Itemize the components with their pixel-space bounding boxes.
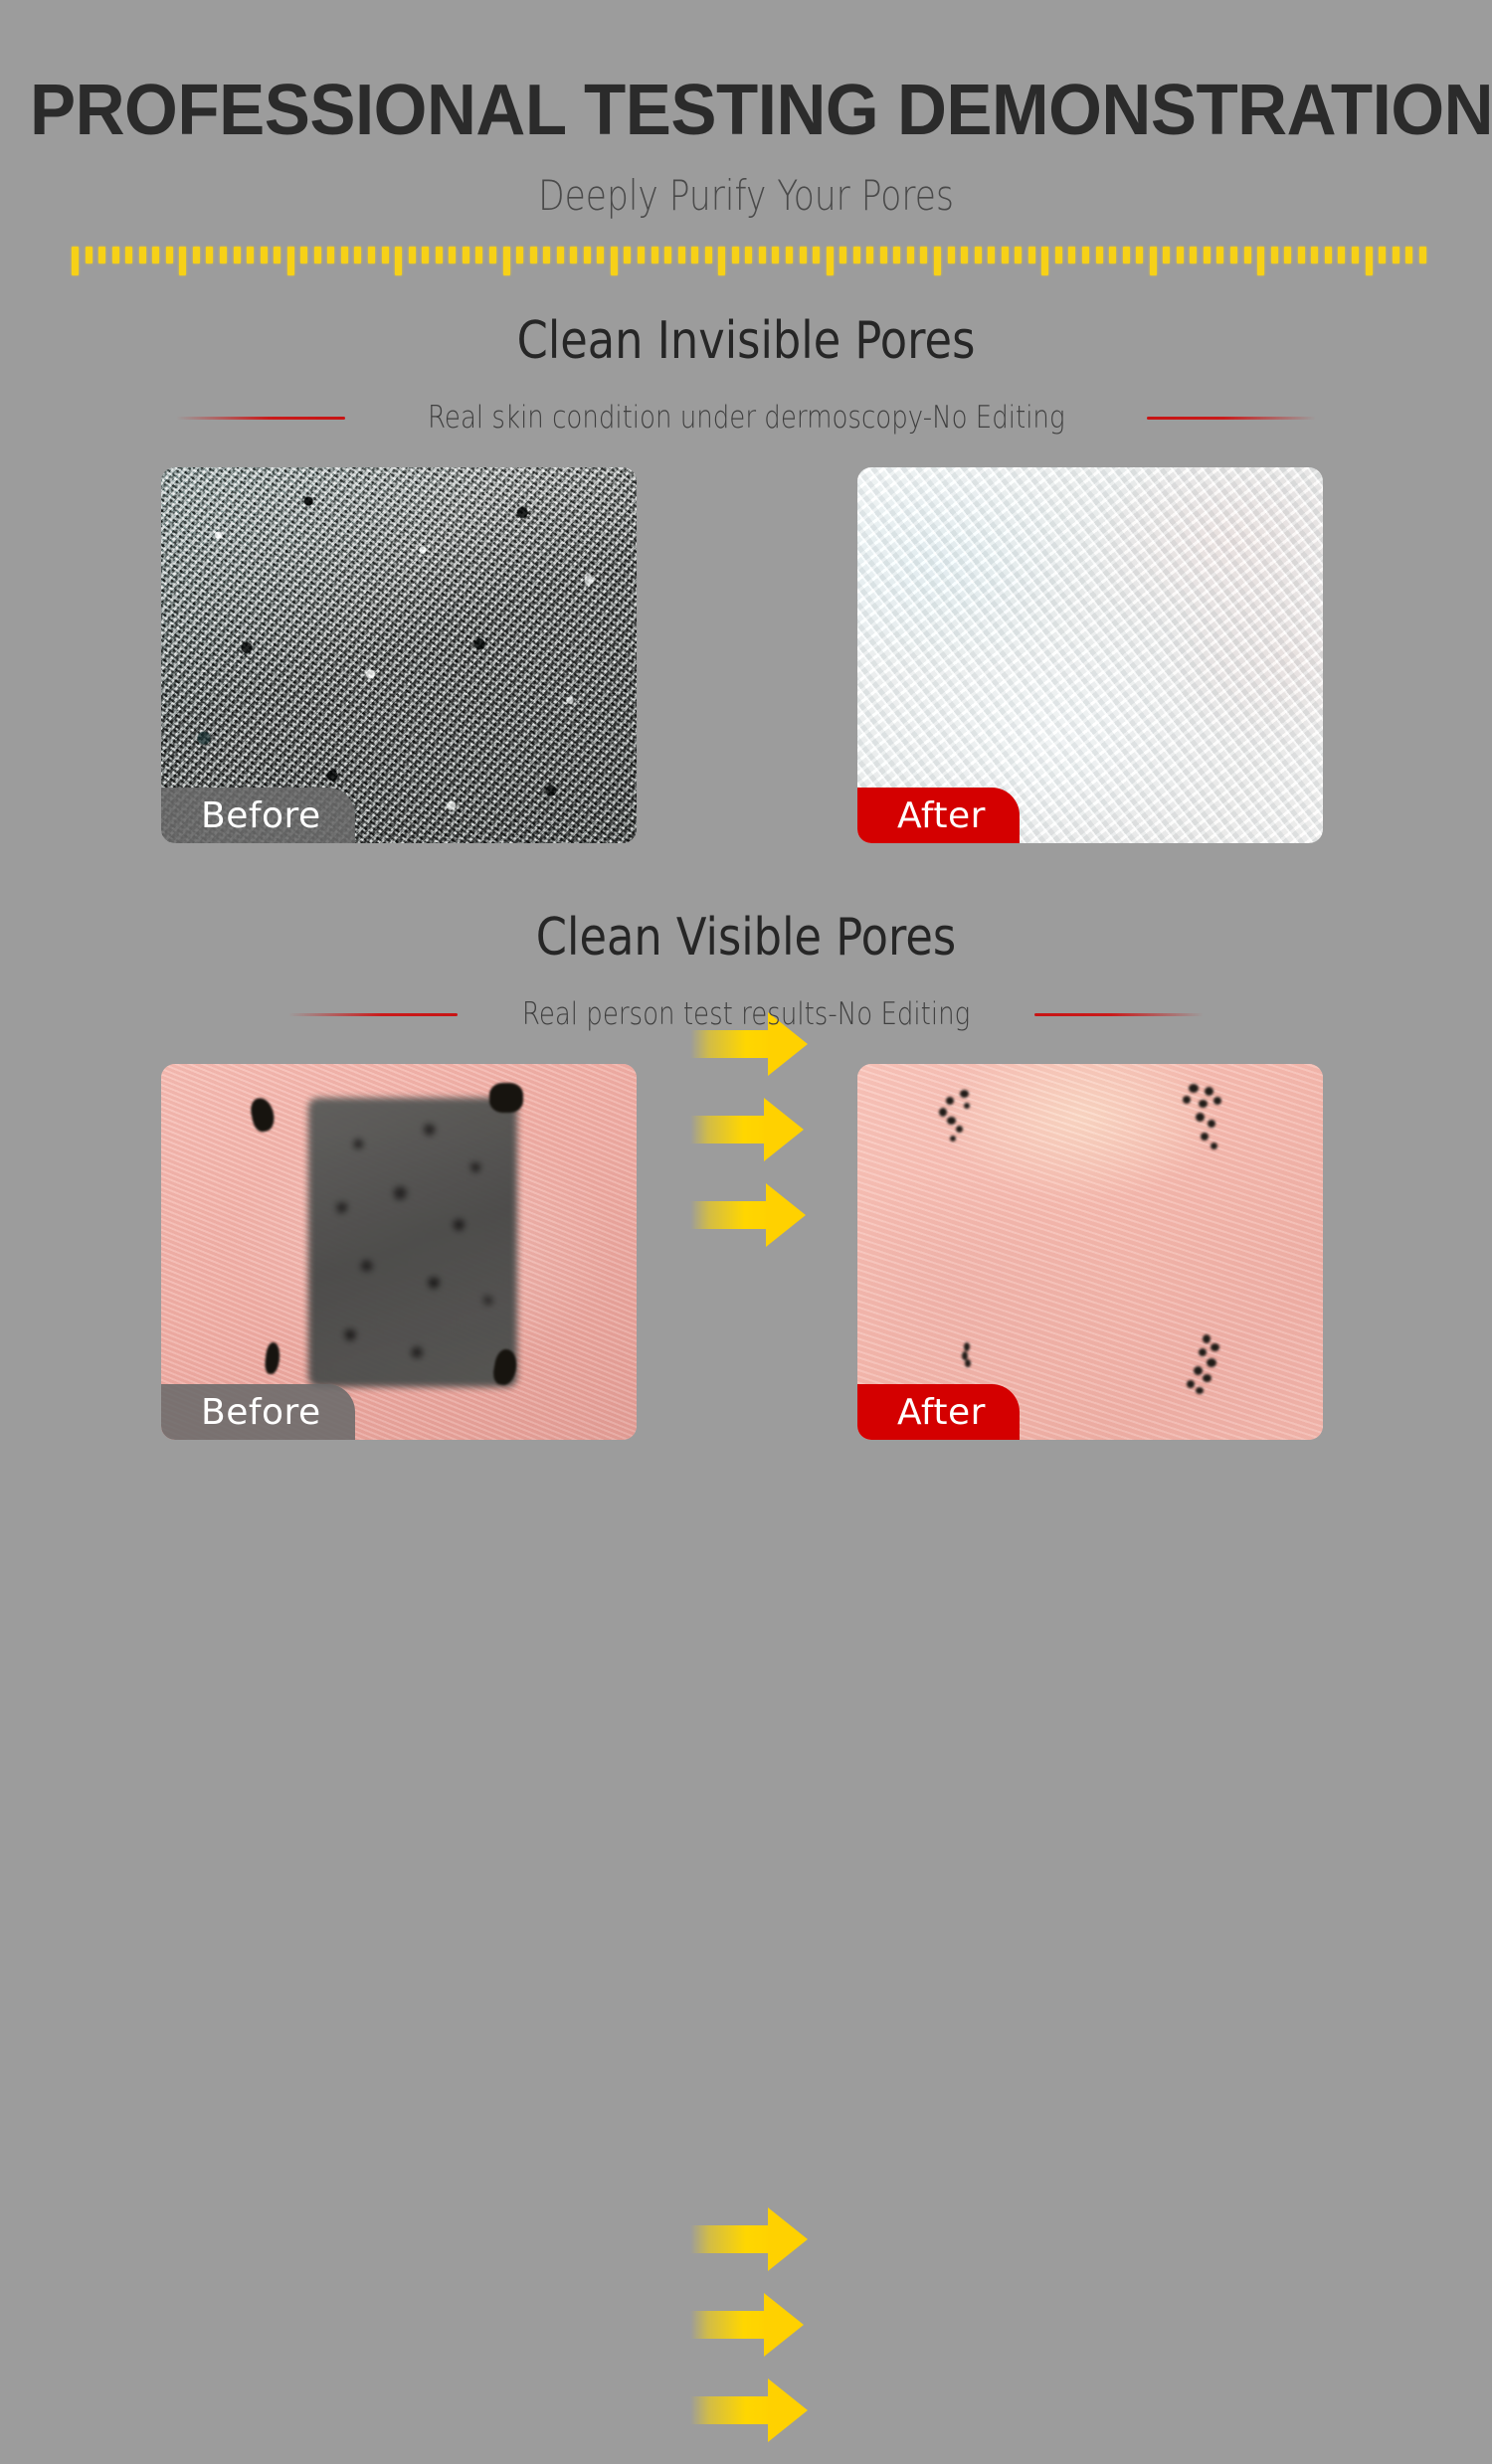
ruler-tick-icon xyxy=(166,247,173,264)
residual-speck xyxy=(960,1342,976,1370)
ruler-tick-icon xyxy=(300,247,307,264)
ruler-tick-icon xyxy=(287,247,294,275)
ruler-tick-icon xyxy=(570,247,577,264)
ruler-tick-icon xyxy=(1177,247,1184,264)
ruler-tick-icon xyxy=(1271,247,1278,264)
ruler-divider xyxy=(72,247,1426,288)
blackhead-spot xyxy=(265,1341,281,1374)
ruler-tick-icon xyxy=(1230,247,1237,264)
ruler-tick-icon xyxy=(678,247,685,264)
after-badge: After xyxy=(857,788,1020,843)
blackhead-patch xyxy=(308,1098,517,1387)
ruler-tick-icon xyxy=(1096,247,1103,264)
ruler-tick-icon xyxy=(839,247,846,264)
comparison-visible-pores: Before After xyxy=(0,1064,1492,1442)
arrow-head xyxy=(768,2378,808,2442)
ruler-tick-icon xyxy=(1298,247,1305,264)
ruler-tick-icon xyxy=(732,247,739,264)
ruler-tick-icon xyxy=(1190,247,1197,264)
ruler-tick-icon xyxy=(1311,247,1318,264)
ruler-tick-icon xyxy=(341,247,348,264)
residual-speck xyxy=(1184,1334,1231,1396)
arrow-stack-visible-pores xyxy=(690,2207,820,2464)
ruler-tick-icon xyxy=(584,247,591,264)
ruler-tick-icon xyxy=(1419,247,1426,264)
ruler-tick-icon xyxy=(354,247,361,264)
arrow-head xyxy=(768,2207,808,2271)
ruler-tick-icon xyxy=(718,247,725,275)
ruler-tick-icon xyxy=(961,247,968,264)
ruler-tick-icon xyxy=(489,247,496,264)
section-caption-visible-pores: Real person test results-No Editing xyxy=(522,994,970,1034)
after-badge: After xyxy=(857,1384,1020,1440)
ruler-tick-icon xyxy=(772,247,779,264)
blackhead-spot xyxy=(489,1083,523,1113)
ruler-tick-icon xyxy=(543,247,550,264)
comparison-invisible-pores: Before After xyxy=(0,467,1492,845)
ruler-tick-icon xyxy=(920,247,927,264)
divider-line-left xyxy=(176,417,345,420)
ruler-tick-icon xyxy=(1055,247,1062,264)
ruler-tick-icon xyxy=(463,247,469,264)
ruler-tick-icon xyxy=(1015,247,1022,264)
ruler-tick-icon xyxy=(139,247,146,264)
before-photo-dermoscopy: Before xyxy=(161,467,637,843)
ruler-tick-icon xyxy=(152,247,159,264)
ruler-tick-icon xyxy=(597,247,604,264)
ruler-tick-icon xyxy=(691,247,698,264)
ruler-tick-icon xyxy=(436,247,443,264)
ruler-tick-icon xyxy=(1257,247,1264,275)
before-photo-real-person: Before xyxy=(161,1064,637,1440)
ruler-tick-icon xyxy=(1366,247,1373,275)
ruler-tick-icon xyxy=(800,247,807,264)
ruler-tick-icon xyxy=(382,247,389,264)
ruler-tick-icon xyxy=(247,247,254,264)
ruler-tick-icon xyxy=(234,247,241,264)
ruler-tick-icon xyxy=(652,247,658,264)
ruler-tick-icon xyxy=(624,247,631,264)
ruler-tick-icon xyxy=(1163,247,1170,264)
ruler-tick-icon xyxy=(327,247,334,264)
after-photo-dermoscopy: After xyxy=(857,467,1323,843)
ruler-tick-icon xyxy=(907,247,914,264)
ruler-tick-icon xyxy=(125,247,132,264)
ruler-tick-icon xyxy=(1082,247,1089,264)
page-title: PROFESSIONAL TESTING DEMONSTRATION xyxy=(30,68,1462,153)
section-caption-invisible-pores: Real skin condition under dermoscopy-No … xyxy=(428,398,1065,438)
ruler-tick-icon xyxy=(206,247,213,264)
ruler-tick-icon xyxy=(368,247,375,264)
ruler-tick-icon xyxy=(1393,247,1399,264)
ruler-tick-icon xyxy=(1109,247,1116,264)
ruler-tick-icon xyxy=(1338,247,1345,264)
ruler-tick-icon xyxy=(475,247,482,264)
before-badge: Before xyxy=(161,1384,355,1440)
ruler-tick-icon xyxy=(449,247,456,264)
ruler-tick-icon xyxy=(745,247,752,264)
page-subtitle: Deeply Purify Your Pores xyxy=(134,169,1358,223)
ruler-tick-icon xyxy=(261,247,268,264)
ruler-tick-icon xyxy=(274,247,280,264)
ruler-tick-icon xyxy=(1136,247,1143,264)
ruler-tick-icon xyxy=(893,247,900,264)
ruler-tick-icon xyxy=(988,247,995,264)
divider-line-right xyxy=(1034,1013,1204,1016)
ruler-tick-icon xyxy=(1002,247,1009,264)
ruler-tick-icon xyxy=(1123,247,1130,264)
ruler-tick-icon xyxy=(813,247,820,264)
arrow-shaft xyxy=(690,1030,776,1058)
ruler-tick-icon xyxy=(98,247,105,264)
ruler-tick-icon xyxy=(611,247,618,275)
before-badge: Before xyxy=(161,788,355,843)
arrow-shaft xyxy=(690,2225,776,2253)
ruler-tick-icon xyxy=(220,247,227,264)
caption-row-visible-pores: Real person test results-No Editing xyxy=(0,994,1492,1034)
ruler-tick-icon xyxy=(112,247,119,264)
ruler-tick-icon xyxy=(503,247,510,275)
ruler-tick-icon xyxy=(1379,247,1386,264)
ruler-tick-icon xyxy=(422,247,429,264)
section-heading-visible-pores: Clean Visible Pores xyxy=(104,907,1388,968)
caption-row-invisible-pores: Real skin condition under dermoscopy-No … xyxy=(0,398,1492,438)
blackhead-spot xyxy=(249,1096,278,1134)
arrow-shaft xyxy=(690,2311,772,2339)
divider-line-left xyxy=(288,1013,458,1016)
ruler-tick-icon xyxy=(975,247,982,264)
ruler-tick-icon xyxy=(705,247,712,264)
ruler-tick-icon xyxy=(557,247,564,264)
ruler-tick-icon xyxy=(948,247,955,264)
ruler-tick-icon xyxy=(1284,247,1291,264)
ruler-tick-icon xyxy=(664,247,671,264)
ruler-tick-icon xyxy=(1204,247,1211,264)
ruler-tick-icon xyxy=(1041,247,1048,275)
after-photo-real-person: After xyxy=(857,1064,1323,1440)
ruler-tick-icon xyxy=(853,247,860,264)
ruler-tick-icon xyxy=(1352,247,1359,264)
arrow-shaft xyxy=(690,2396,776,2424)
ruler-tick-icon xyxy=(409,247,416,264)
ruler-tick-icon xyxy=(866,247,873,264)
ruler-tick-icon xyxy=(827,247,834,275)
arrow-head xyxy=(764,2293,804,2357)
ruler-tick-icon xyxy=(1068,247,1075,264)
ruler-tick-icon xyxy=(759,247,766,264)
ruler-tick-icon xyxy=(179,247,186,275)
section-heading-invisible-pores: Clean Invisible Pores xyxy=(104,310,1388,372)
ruler-tick-icon xyxy=(530,247,537,264)
ruler-tick-icon xyxy=(1244,247,1251,264)
ruler-tick-icon xyxy=(86,247,93,264)
ruler-tick-icon xyxy=(516,247,523,264)
ruler-tick-icon xyxy=(1405,247,1412,264)
ruler-tick-icon xyxy=(934,247,941,275)
residual-speck xyxy=(937,1090,983,1147)
ruler-tick-icon xyxy=(1325,247,1332,264)
ruler-tick-icon xyxy=(72,247,79,275)
ruler-tick-icon xyxy=(395,247,402,275)
ruler-tick-icon xyxy=(638,247,645,264)
promo-page: PROFESSIONAL TESTING DEMONSTRATION Deepl… xyxy=(0,0,1492,1492)
residual-speck xyxy=(1179,1083,1234,1154)
ruler-tick-icon xyxy=(1150,247,1157,275)
ruler-tick-icon xyxy=(880,247,887,264)
ruler-tick-icon xyxy=(1028,247,1035,264)
divider-line-right xyxy=(1147,417,1316,420)
ruler-tick-icon xyxy=(193,247,200,264)
ruler-tick-icon xyxy=(1216,247,1223,264)
ruler-tick-icon xyxy=(786,247,793,264)
ruler-tick-icon xyxy=(314,247,321,264)
